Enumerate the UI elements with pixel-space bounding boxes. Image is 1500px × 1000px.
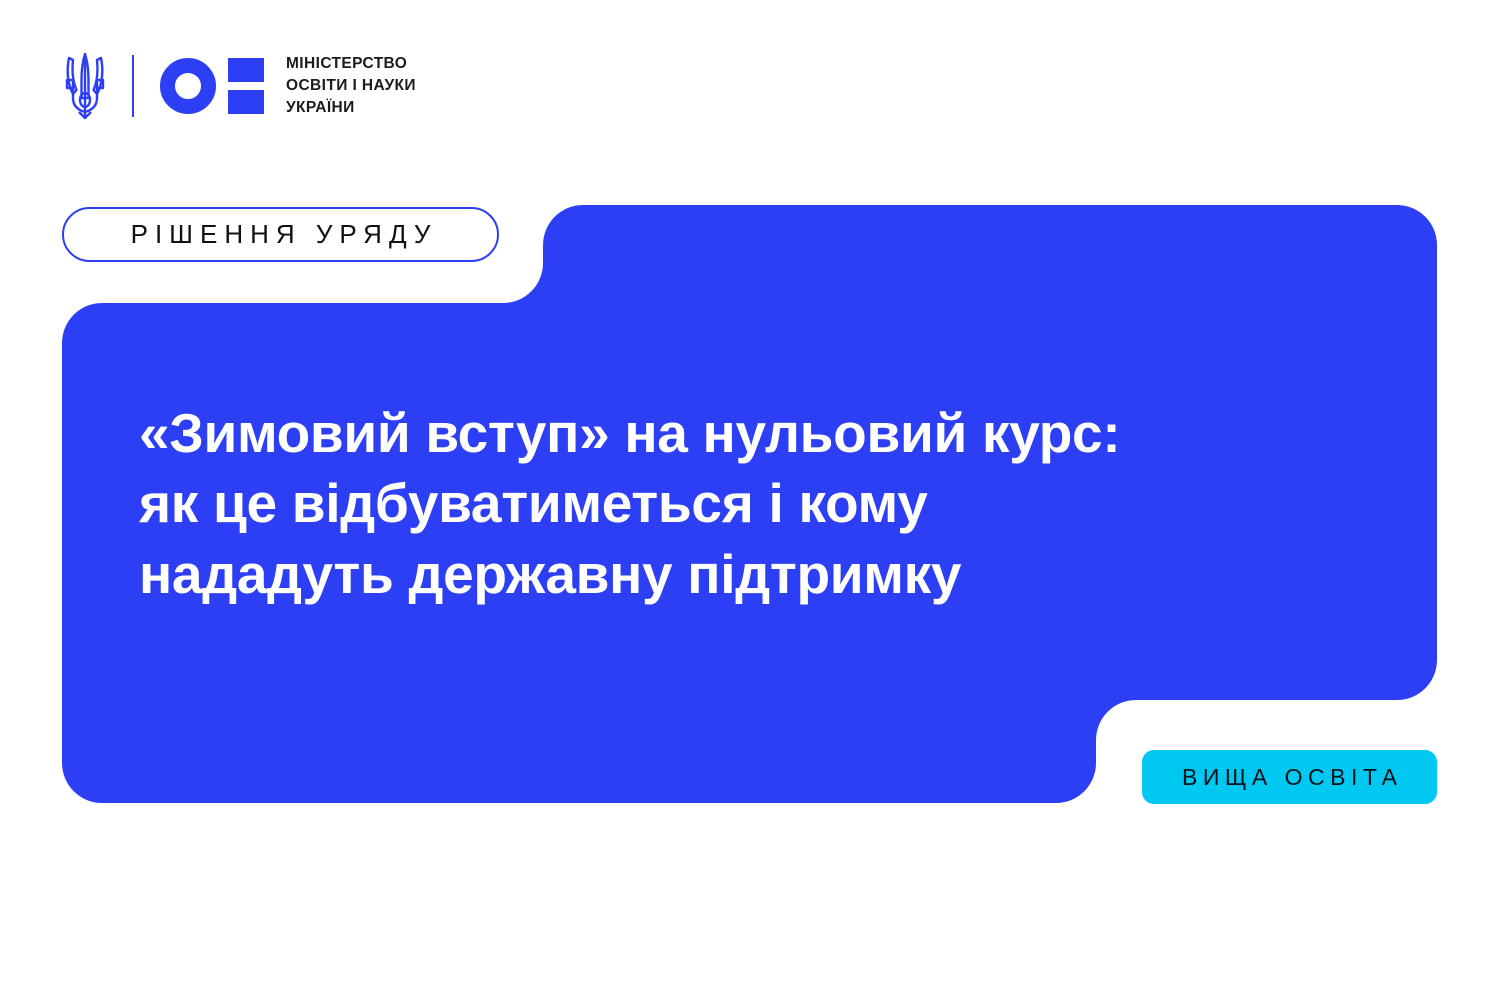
page-title-line-2: як це відбуватиметься і кому xyxy=(139,468,1349,538)
poster-canvas: МІНІСТЕРСТВО ОСВІТИ І НАУКИ УКРАЇНИ РІШЕ… xyxy=(0,0,1500,1000)
page-title-line-3: нададуть державну підтримку xyxy=(139,539,1349,609)
category-tag: ВИЩА ОСВІТА xyxy=(1142,750,1437,804)
kicker-badge: РІШЕННЯ УРЯДУ xyxy=(62,207,499,262)
kicker-badge-label: РІШЕННЯ УРЯДУ xyxy=(124,219,438,250)
page-title: «Зимовий вступ» на нульовий курс: як це … xyxy=(139,398,1349,609)
page-title-line-1: «Зимовий вступ» на нульовий курс: xyxy=(139,398,1349,468)
category-tag-label: ВИЩА ОСВІТА xyxy=(1176,764,1402,791)
